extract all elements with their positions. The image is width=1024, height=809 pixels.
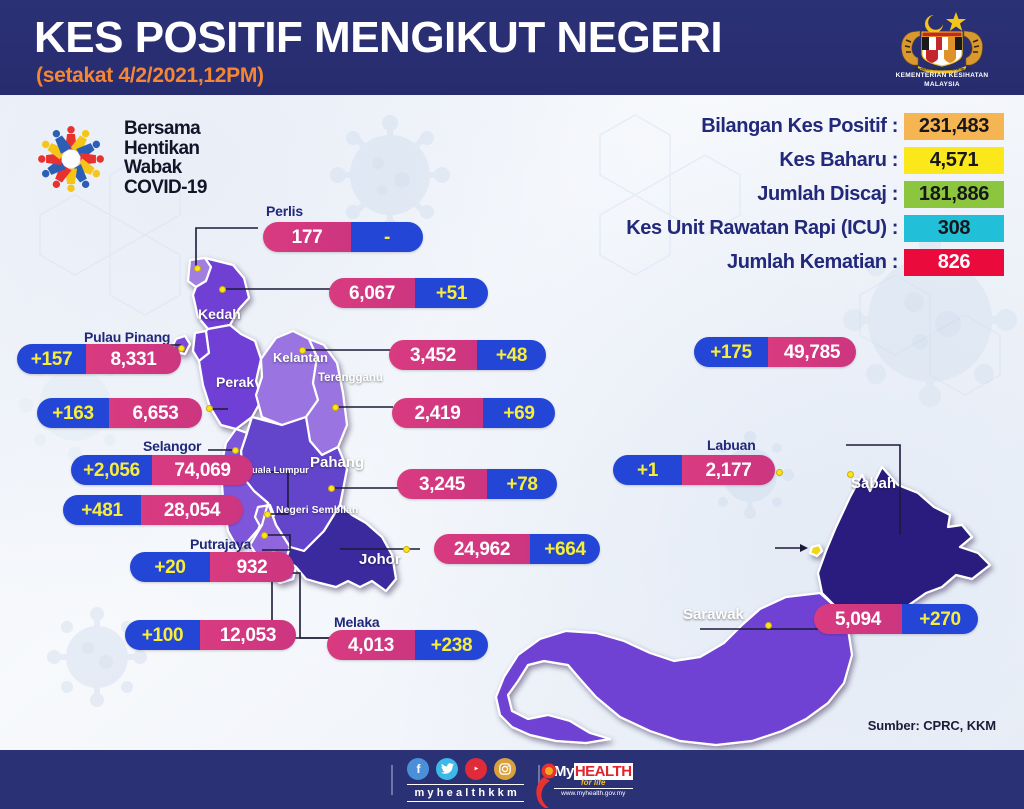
badge-kuala-lumpur-new: +481 <box>63 495 141 525</box>
badge-kedah-new: +51 <box>415 278 488 308</box>
badge-labuan-total: 2,177 <box>682 455 775 485</box>
badge-sabah-total: 49,785 <box>768 337 856 367</box>
map-label-johor: Johor <box>359 551 401 568</box>
map-dot-kedah <box>219 286 226 293</box>
badge-perlis[interactable]: 177 - <box>263 222 423 252</box>
caption-perlis: Perlis <box>266 203 303 219</box>
map-region-labuan <box>810 545 822 556</box>
badge-sarawak-new: +270 <box>902 604 978 634</box>
badge-putrajaya[interactable]: +20 932 <box>130 552 294 582</box>
footer-divider-left <box>391 765 393 795</box>
youtube-play-glyph <box>470 764 482 773</box>
badge-pulau-pinang[interactable]: +157 8,331 <box>17 344 181 374</box>
badge-johor[interactable]: 24,962 +664 <box>434 534 600 564</box>
badge-kedah-total: 6,067 <box>329 278 415 308</box>
footer-bar: f <box>0 750 1024 809</box>
map-dot-johor <box>403 546 410 553</box>
labuan-arrowhead <box>800 544 808 552</box>
map-label-sabah: Sabah <box>851 475 896 492</box>
map-label-sarawak: Sarawak <box>683 606 744 623</box>
badge-pulau-pinang-new: +157 <box>17 344 86 374</box>
badge-terengganu-new: +69 <box>483 398 555 428</box>
badge-terengganu-total: 2,419 <box>392 398 483 428</box>
myhealth-runner-icon <box>530 763 560 809</box>
badge-perak-new: +163 <box>37 398 109 428</box>
badge-terengganu[interactable]: 2,419 +69 <box>392 398 555 428</box>
badge-pulau-pinang-total: 8,331 <box>86 344 181 374</box>
social-block: f <box>407 758 524 802</box>
map-dot-pahang <box>328 485 335 492</box>
page-subtitle: (setakat 4/2/2021,12PM) <box>36 64 264 88</box>
twitter-icon[interactable] <box>436 758 458 780</box>
map-dot-perak <box>206 405 213 412</box>
emblem-caption: KEMENTERIAN KESIHATAN MALAYSIA <box>882 72 1002 90</box>
badge-negeri-sembilan[interactable]: +100 12,053 <box>125 620 296 650</box>
badge-kelantan-total: 3,452 <box>389 340 477 370</box>
badge-selangor-total: 74,069 <box>152 455 253 485</box>
badge-sabah[interactable]: +175 49,785 <box>694 337 856 367</box>
badge-sarawak[interactable]: 5,094 +270 <box>814 604 978 634</box>
social-handle: myhealthkkm <box>407 784 524 802</box>
badge-negeri-sembilan-total: 12,053 <box>200 620 296 650</box>
caption-melaka: Melaka <box>334 614 380 630</box>
map-region-sarawak <box>496 593 852 745</box>
map-label-kelantan: Kelantan <box>273 350 328 365</box>
badge-melaka[interactable]: 4,013 +238 <box>327 630 488 660</box>
instagram-icon[interactable] <box>494 758 516 780</box>
ministry-emblem: BERSEKUTU BERTAMBAH MUTU KEMENTERIAN KES… <box>882 6 1002 92</box>
badge-labuan[interactable]: +1 2,177 <box>613 455 775 485</box>
badge-pahang[interactable]: 3,245 +78 <box>397 469 557 499</box>
map-dot-sarawak <box>765 622 772 629</box>
map-dot-selangor <box>232 447 239 454</box>
map-label-kuala-lumpur-text: Kuala Lumpur <box>245 465 309 476</box>
map-label-terengganu: Terengganu <box>318 372 383 384</box>
map-dot-putrajaya <box>261 532 268 539</box>
badge-sarawak-total: 5,094 <box>814 604 902 634</box>
emblem-caption-line2: MALAYSIA <box>924 81 960 88</box>
map-label-kuala-lumpur: Kuala Lumpur <box>245 466 309 476</box>
map-label-pahang: Pahang <box>310 454 364 471</box>
badge-perlis-new: - <box>351 222 423 252</box>
badge-labuan-new: +1 <box>613 455 682 485</box>
instagram-camera-glyph <box>499 763 511 775</box>
badge-johor-total: 24,962 <box>434 534 530 564</box>
badge-perak-total: 6,653 <box>109 398 202 428</box>
myhealth-logo[interactable]: MyHEALTH for life www.myhealth.gov.my <box>554 763 633 797</box>
badge-perlis-total: 177 <box>263 222 351 252</box>
badge-kuala-lumpur-total: 28,054 <box>141 495 243 525</box>
caption-labuan: Labuan <box>707 437 756 453</box>
badge-kelantan-new: +48 <box>477 340 546 370</box>
caption-pulau-pinang: Pulau Pinang <box>84 329 170 345</box>
map-label-perak: Perak <box>216 374 254 390</box>
map-label-negeri-sembilan: Negeri Sembilan <box>276 505 338 517</box>
badge-putrajaya-total: 932 <box>210 552 294 582</box>
badge-kuala-lumpur[interactable]: +481 28,054 <box>63 495 243 525</box>
svg-text:BERSEKUTU BERTAMBAH MUTU: BERSEKUTU BERTAMBAH MUTU <box>913 68 971 72</box>
badge-perak[interactable]: +163 6,653 <box>37 398 202 428</box>
infographic-page: KES POSITIF MENGIKUT NEGERI (setakat 4/2… <box>0 0 1024 809</box>
badge-negeri-sembilan-new: +100 <box>125 620 200 650</box>
youtube-icon[interactable] <box>465 758 487 780</box>
badge-selangor-new: +2,056 <box>71 455 152 485</box>
myhealth-url: www.myhealth.gov.my <box>554 788 633 797</box>
badge-melaka-total: 4,013 <box>327 630 415 660</box>
caption-selangor: Selangor <box>143 438 201 454</box>
map-dot-labuan <box>776 469 783 476</box>
twitter-bird-glyph <box>441 763 454 774</box>
source-note: Sumber: CPRC, KKM <box>868 718 996 733</box>
badge-pahang-total: 3,245 <box>397 469 487 499</box>
page-title: KES POSITIF MENGIKUT NEGERI <box>34 16 722 60</box>
badge-selangor[interactable]: +2,056 74,069 <box>71 455 253 485</box>
badge-pahang-new: +78 <box>487 469 557 499</box>
map-dot-kuala-lumpur <box>264 511 271 518</box>
caption-putrajaya: Putrajaya <box>190 536 251 552</box>
facebook-icon[interactable]: f <box>407 758 429 780</box>
badge-putrajaya-new: +20 <box>130 552 210 582</box>
badge-johor-new: +664 <box>530 534 600 564</box>
emblem-caption-line1: KEMENTERIAN KESIHATAN <box>896 72 989 79</box>
jata-negara-icon: BERSEKUTU BERTAMBAH MUTU <box>882 6 1002 78</box>
badge-kelantan[interactable]: 3,452 +48 <box>389 340 546 370</box>
myhealth-health-text: HEALTH <box>574 763 633 780</box>
header-bar: KES POSITIF MENGIKUT NEGERI (setakat 4/2… <box>0 0 1024 95</box>
social-icon-row: f <box>407 758 524 780</box>
map-label-kedah: Kedah <box>198 306 241 322</box>
map-region-sabah <box>818 467 990 619</box>
map-region-kelantan <box>256 331 318 425</box>
badge-sabah-new: +175 <box>694 337 768 367</box>
map-dot-terengganu <box>332 404 339 411</box>
map-dot-perlis <box>194 265 201 272</box>
myhealth-wordmark: MyHEALTH <box>554 763 633 780</box>
badge-melaka-new: +238 <box>415 630 488 660</box>
badge-kedah[interactable]: 6,067 +51 <box>329 278 488 308</box>
